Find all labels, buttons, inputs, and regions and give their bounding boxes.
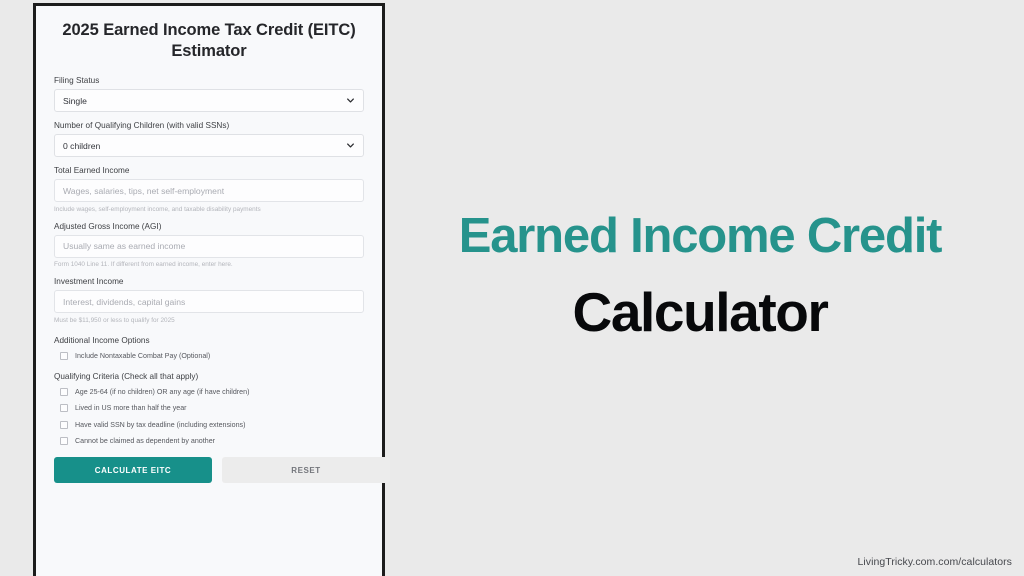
- checkbox-label: Age 25-64 (if no children) OR any age (i…: [75, 388, 249, 396]
- chevron-down-icon: [347, 142, 354, 149]
- checkbox-label: Cannot be claimed as dependent by anothe…: [75, 437, 215, 445]
- filing-status-value: Single: [63, 96, 87, 106]
- earned-income-label: Total Earned Income: [54, 166, 364, 175]
- qualifying-children-select[interactable]: 0 children: [54, 134, 364, 157]
- qualifying-criteria-section: Qualifying Criteria (Check all that appl…: [54, 372, 364, 446]
- eitc-calculator-card: 2025 Earned Income Tax Credit (EITC) Est…: [33, 3, 385, 576]
- agi-label: Adjusted Gross Income (AGI): [54, 222, 364, 231]
- additional-income-options-section: Additional Income Options Include Nontax…: [54, 336, 364, 360]
- earned-income-helper: Include wages, self-employment income, a…: [54, 206, 364, 213]
- investment-income-placeholder: Interest, dividends, capital gains: [63, 297, 185, 307]
- hero-section: Earned Income Credit Calculator: [400, 0, 1024, 576]
- chevron-down-icon: [347, 97, 354, 104]
- checkbox-row-age[interactable]: Age 25-64 (if no children) OR any age (i…: [54, 388, 364, 396]
- checkbox-label: Have valid SSN by tax deadline (includin…: [75, 421, 245, 429]
- investment-income-helper: Must be $11,950 or less to qualify for 2…: [54, 317, 364, 324]
- investment-income-label: Investment Income: [54, 277, 364, 286]
- checkbox-row-combat-pay[interactable]: Include Nontaxable Combat Pay (Optional): [54, 352, 364, 360]
- button-row: CALCULATE EITC RESET: [54, 457, 364, 483]
- page-title: 2025 Earned Income Tax Credit (EITC) Est…: [54, 20, 364, 62]
- earned-income-group: Total Earned Income Wages, salaries, tip…: [54, 166, 364, 213]
- checkbox-icon[interactable]: [60, 404, 68, 412]
- qualifying-children-label: Number of Qualifying Children (with vali…: [54, 121, 364, 130]
- filing-status-select[interactable]: Single: [54, 89, 364, 112]
- earned-income-placeholder: Wages, salaries, tips, net self-employme…: [63, 186, 224, 196]
- additional-income-options-label: Additional Income Options: [54, 336, 364, 345]
- checkbox-row-ssn[interactable]: Have valid SSN by tax deadline (includin…: [54, 421, 364, 429]
- agi-helper: Form 1040 Line 11. If different from ear…: [54, 261, 364, 268]
- filing-status-label: Filing Status: [54, 76, 364, 85]
- checkbox-icon[interactable]: [60, 437, 68, 445]
- checkbox-icon[interactable]: [60, 388, 68, 396]
- investment-income-group: Investment Income Interest, dividends, c…: [54, 277, 364, 324]
- checkbox-label: Lived in US more than half the year: [75, 404, 187, 412]
- agi-input[interactable]: Usually same as earned income: [54, 235, 364, 258]
- earned-income-input[interactable]: Wages, salaries, tips, net self-employme…: [54, 179, 364, 202]
- checkbox-icon[interactable]: [60, 352, 68, 360]
- filing-status-group: Filing Status Single: [54, 76, 364, 112]
- qualifying-children-value: 0 children: [63, 141, 100, 151]
- reset-button[interactable]: RESET: [222, 457, 390, 483]
- agi-group: Adjusted Gross Income (AGI) Usually same…: [54, 222, 364, 269]
- qualifying-criteria-label: Qualifying Criteria (Check all that appl…: [54, 372, 364, 381]
- hero-title-line-2: Calculator: [400, 285, 1000, 340]
- hero-title-line-1: Earned Income Credit: [400, 212, 1000, 261]
- checkbox-label: Include Nontaxable Combat Pay (Optional): [75, 352, 210, 360]
- footer-watermark: LivingTricky.com.com/calculators: [858, 556, 1012, 568]
- checkbox-icon[interactable]: [60, 421, 68, 429]
- checkbox-row-dependent[interactable]: Cannot be claimed as dependent by anothe…: [54, 437, 364, 445]
- qualifying-children-group: Number of Qualifying Children (with vali…: [54, 121, 364, 157]
- checkbox-row-residency[interactable]: Lived in US more than half the year: [54, 404, 364, 412]
- investment-income-input[interactable]: Interest, dividends, capital gains: [54, 290, 364, 313]
- calculate-eitc-button[interactable]: CALCULATE EITC: [54, 457, 212, 483]
- agi-placeholder: Usually same as earned income: [63, 241, 185, 251]
